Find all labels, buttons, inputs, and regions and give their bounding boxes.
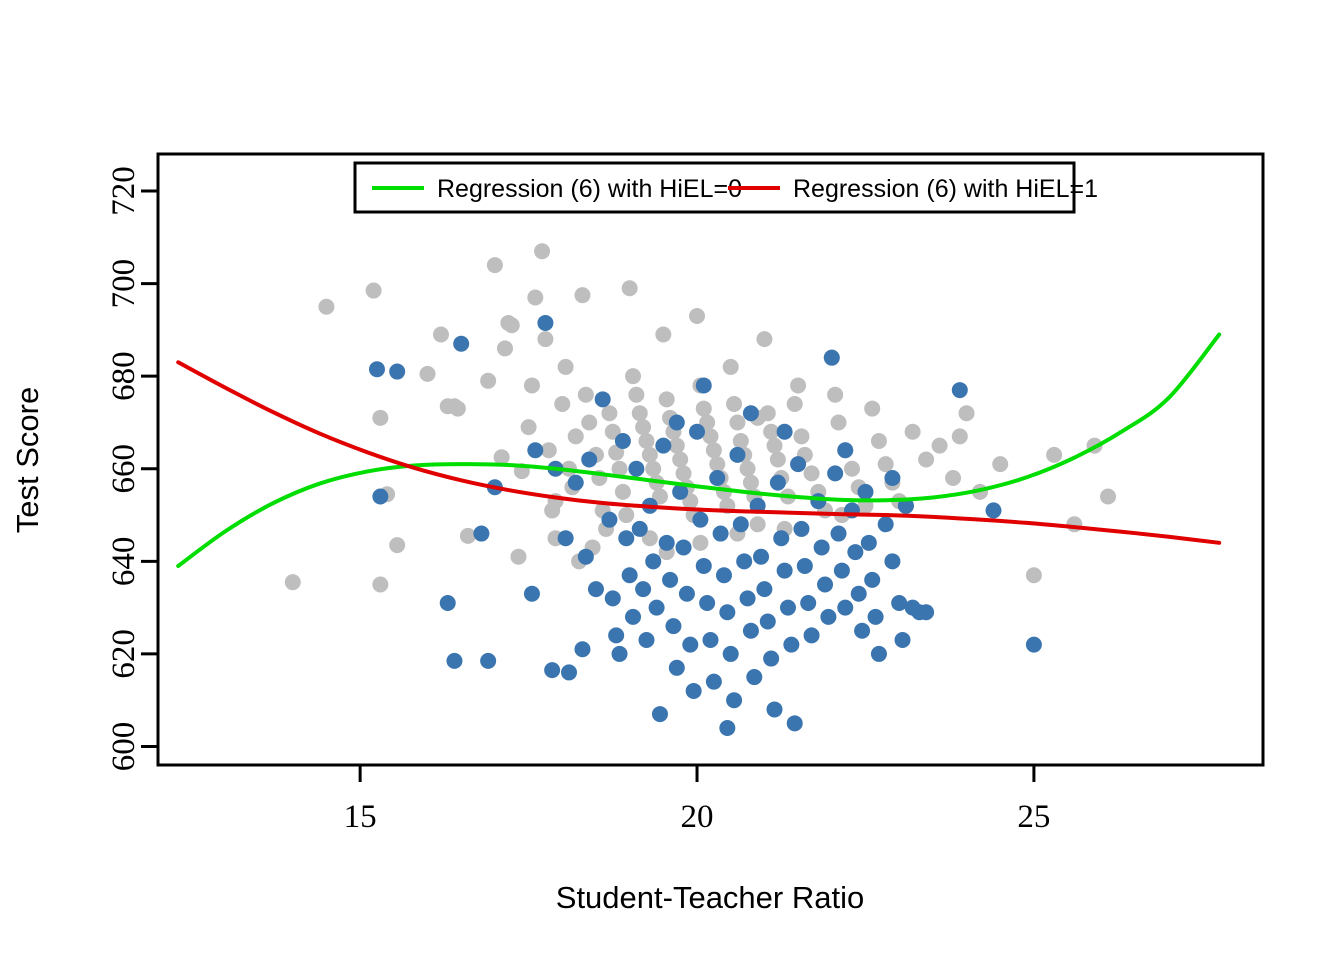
- data-point: [800, 595, 816, 611]
- data-point: [743, 405, 759, 421]
- data-point: [665, 618, 681, 634]
- data-point: [652, 706, 668, 722]
- data-point: [524, 377, 540, 393]
- data-point: [608, 627, 624, 643]
- data-point: [642, 447, 658, 463]
- data-point: [773, 530, 789, 546]
- data-point: [851, 586, 867, 602]
- data-point: [709, 470, 725, 486]
- data-point: [871, 646, 887, 662]
- data-point: [568, 428, 584, 444]
- data-point: [814, 539, 830, 555]
- data-point: [480, 653, 496, 669]
- data-point: [1026, 637, 1042, 653]
- y-tick-label: 720: [106, 166, 142, 216]
- data-point: [787, 715, 803, 731]
- data-point: [945, 470, 961, 486]
- data-point: [750, 516, 766, 532]
- data-point: [847, 544, 863, 560]
- data-point: [628, 461, 644, 477]
- data-point: [578, 549, 594, 565]
- data-point: [804, 465, 820, 481]
- data-point: [686, 683, 702, 699]
- data-point: [655, 327, 671, 343]
- data-point: [837, 442, 853, 458]
- data-point: [709, 456, 725, 472]
- data-point: [615, 433, 631, 449]
- data-point: [510, 549, 526, 565]
- data-point: [534, 243, 550, 259]
- data-point: [676, 539, 692, 555]
- data-point: [581, 414, 597, 430]
- data-point: [932, 438, 948, 454]
- data-point: [1026, 567, 1042, 583]
- legend[interactable]: Regression (6) with HiEL=0 Regression (6…: [355, 163, 1098, 212]
- y-tick-label: 700: [106, 259, 142, 309]
- data-point: [460, 528, 476, 544]
- data-point: [713, 526, 729, 542]
- data-point: [595, 391, 611, 407]
- data-point: [662, 572, 678, 588]
- data-point: [318, 299, 334, 315]
- data-point: [669, 660, 685, 676]
- data-point: [618, 507, 634, 523]
- data-point: [756, 581, 772, 597]
- data-point: [827, 387, 843, 403]
- data-point: [871, 433, 887, 449]
- data-point: [760, 614, 776, 630]
- data-point: [659, 391, 675, 407]
- data-point: [726, 396, 742, 412]
- data-point: [601, 512, 617, 528]
- data-point: [453, 336, 469, 352]
- data-point: [868, 609, 884, 625]
- data-point: [756, 331, 772, 347]
- data-point: [780, 600, 796, 616]
- data-point: [1066, 516, 1082, 532]
- y-tick-label: 600: [106, 722, 142, 772]
- data-point: [740, 461, 756, 477]
- data-point: [649, 600, 665, 616]
- data-point: [544, 662, 560, 678]
- data-point: [952, 428, 968, 444]
- data-point: [918, 452, 934, 468]
- data-point: [638, 433, 654, 449]
- data-point: [763, 651, 779, 667]
- data-point: [527, 442, 543, 458]
- data-point: [420, 366, 436, 382]
- data-point: [672, 452, 688, 468]
- data-point: [615, 484, 631, 500]
- data-point: [746, 669, 762, 685]
- data-point: [699, 595, 715, 611]
- data-point: [446, 653, 462, 669]
- data-point: [632, 521, 648, 537]
- data-point: [820, 609, 836, 625]
- data-point: [473, 526, 489, 542]
- data-point: [706, 674, 722, 690]
- data-point: [605, 590, 621, 606]
- data-point: [679, 586, 695, 602]
- data-point: [723, 646, 739, 662]
- y-tick-label: 680: [106, 351, 142, 401]
- data-point: [854, 623, 870, 639]
- plot-background: [0, 0, 1344, 960]
- x-axis-title: Student-Teacher Ratio: [556, 880, 864, 915]
- data-point: [285, 574, 301, 590]
- data-point: [440, 595, 456, 611]
- data-point: [581, 452, 597, 468]
- data-point: [777, 424, 793, 440]
- data-point: [574, 641, 590, 657]
- data-point: [696, 377, 712, 393]
- data-point: [729, 414, 745, 430]
- data-point: [561, 664, 577, 680]
- data-point: [568, 475, 584, 491]
- data-point: [527, 289, 543, 305]
- data-point: [729, 447, 745, 463]
- data-point: [733, 516, 749, 532]
- data-point: [736, 553, 752, 569]
- data-point: [696, 401, 712, 417]
- data-point: [884, 553, 900, 569]
- data-point: [861, 535, 877, 551]
- data-point: [655, 438, 671, 454]
- data-point: [723, 359, 739, 375]
- data-point: [817, 576, 833, 592]
- data-point: [433, 327, 449, 343]
- data-point: [716, 567, 732, 583]
- data-point: [689, 424, 705, 440]
- y-tick-label: 640: [106, 537, 142, 587]
- y-tick-label: 660: [106, 444, 142, 494]
- data-point: [952, 382, 968, 398]
- legend-label-hiel0: Regression (6) with HiEL=0: [437, 175, 742, 203]
- data-point: [810, 493, 826, 509]
- data-point: [497, 340, 513, 356]
- data-point: [827, 465, 843, 481]
- data-point: [487, 257, 503, 273]
- data-point: [770, 452, 786, 468]
- data-point: [537, 315, 553, 331]
- data-point: [804, 627, 820, 643]
- data-point: [554, 396, 570, 412]
- data-point: [372, 410, 388, 426]
- data-point: [389, 537, 405, 553]
- data-point: [632, 405, 648, 421]
- data-point: [878, 456, 894, 472]
- data-point: [726, 692, 742, 708]
- data-point: [837, 600, 853, 616]
- data-point: [743, 623, 759, 639]
- y-tick-label: 620: [106, 629, 142, 679]
- data-point: [959, 405, 975, 421]
- data-point: [790, 377, 806, 393]
- data-point: [770, 475, 786, 491]
- x-tick-label: 15: [344, 799, 377, 835]
- x-tick-label: 25: [1017, 799, 1050, 835]
- data-point: [622, 280, 638, 296]
- data-point: [645, 461, 661, 477]
- legend-label-hiel1: Regression (6) with HiEL=1: [793, 175, 1098, 203]
- data-point: [578, 387, 594, 403]
- data-point: [783, 637, 799, 653]
- data-point: [777, 563, 793, 579]
- data-point: [743, 475, 759, 491]
- data-point: [864, 572, 880, 588]
- data-point: [767, 438, 783, 454]
- data-point: [446, 398, 462, 414]
- data-point: [696, 558, 712, 574]
- data-point: [692, 535, 708, 551]
- data-point: [628, 387, 644, 403]
- data-point: [601, 405, 617, 421]
- data-point: [864, 401, 880, 417]
- data-point: [504, 317, 520, 333]
- data-point: [558, 359, 574, 375]
- data-point: [844, 461, 860, 477]
- data-point: [834, 563, 850, 579]
- data-point: [992, 456, 1008, 472]
- data-point: [824, 350, 840, 366]
- data-point: [389, 364, 405, 380]
- data-point: [878, 516, 894, 532]
- data-point: [372, 576, 388, 592]
- data-point: [537, 331, 553, 347]
- data-point: [588, 581, 604, 597]
- data-point: [692, 512, 708, 528]
- data-point: [676, 465, 692, 481]
- data-point: [918, 604, 934, 620]
- data-point: [622, 567, 638, 583]
- data-point: [645, 553, 661, 569]
- data-point: [793, 521, 809, 537]
- data-point: [706, 442, 722, 458]
- data-point: [1100, 489, 1116, 505]
- data-point: [831, 414, 847, 430]
- data-point: [703, 632, 719, 648]
- data-point: [905, 424, 921, 440]
- data-point: [831, 526, 847, 542]
- data-point: [767, 701, 783, 717]
- data-point: [372, 489, 388, 505]
- data-point: [625, 609, 641, 625]
- data-point: [635, 419, 651, 435]
- data-point: [689, 308, 705, 324]
- data-point: [719, 720, 735, 736]
- data-point: [618, 530, 634, 546]
- data-point: [558, 530, 574, 546]
- data-point: [521, 419, 537, 435]
- data-point: [985, 502, 1001, 518]
- data-point: [719, 604, 735, 620]
- data-point: [659, 535, 675, 551]
- data-point: [638, 632, 654, 648]
- data-point: [574, 287, 590, 303]
- data-point: [733, 433, 749, 449]
- data-point: [793, 428, 809, 444]
- chart-canvas: 152025 600620640660680700720 Student-Tea…: [0, 0, 1344, 960]
- data-point: [787, 396, 803, 412]
- data-point: [635, 581, 651, 597]
- data-point: [797, 558, 813, 574]
- data-point: [480, 373, 496, 389]
- data-point: [524, 586, 540, 602]
- data-point: [753, 549, 769, 565]
- data-point: [369, 361, 385, 377]
- data-point: [669, 414, 685, 430]
- data-point: [740, 590, 756, 606]
- data-point: [857, 484, 873, 500]
- x-tick-label: 20: [681, 799, 714, 835]
- data-point: [884, 470, 900, 486]
- data-point: [682, 637, 698, 653]
- scatter-plot-figure: 152025 600620640660680700720 Student-Tea…: [0, 0, 1344, 960]
- data-point: [895, 632, 911, 648]
- data-point: [612, 646, 628, 662]
- data-point: [790, 456, 806, 472]
- data-point: [625, 368, 641, 384]
- data-point: [1046, 447, 1062, 463]
- data-point: [366, 283, 382, 299]
- y-axis-title: Test Score: [10, 387, 45, 533]
